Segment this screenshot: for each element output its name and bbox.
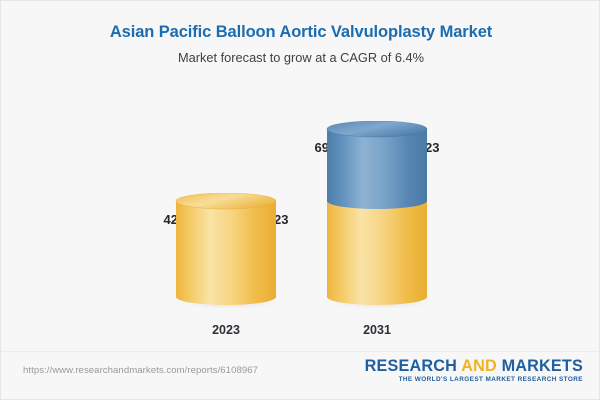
bar-segment-growth (327, 129, 427, 209)
source-url-link[interactable]: https://www.researchandmarkets.com/repor… (23, 365, 258, 376)
bar-body (176, 201, 276, 305)
chart-card: Asian Pacific Balloon Aortic Valvuloplas… (0, 0, 600, 400)
logo-word-research: RESEARCH (365, 357, 457, 375)
logo-tagline: THE WORLD'S LARGEST MARKET RESEARCH STOR… (365, 377, 583, 383)
logo-word-markets: MARKETS (502, 357, 583, 375)
category-label-2031: 2031 (363, 323, 391, 337)
bar-cylinder-2023[interactable] (175, 193, 277, 308)
category-label-2023: 2023 (212, 323, 240, 337)
research-and-markets-logo[interactable]: RESEARCH AND MARKETS THE WORLD'S LARGEST… (365, 358, 583, 384)
bar-segment-base (327, 201, 427, 305)
chart-plot-area: 42.05 Million in 2023 (1, 1, 600, 351)
logo-wordmark: RESEARCH AND MARKETS (365, 358, 583, 374)
chart-footer: https://www.researchandmarkets.com/repor… (1, 351, 600, 400)
bar-cylinder-2031[interactable] (326, 121, 428, 308)
logo-word-and: AND (461, 357, 497, 375)
